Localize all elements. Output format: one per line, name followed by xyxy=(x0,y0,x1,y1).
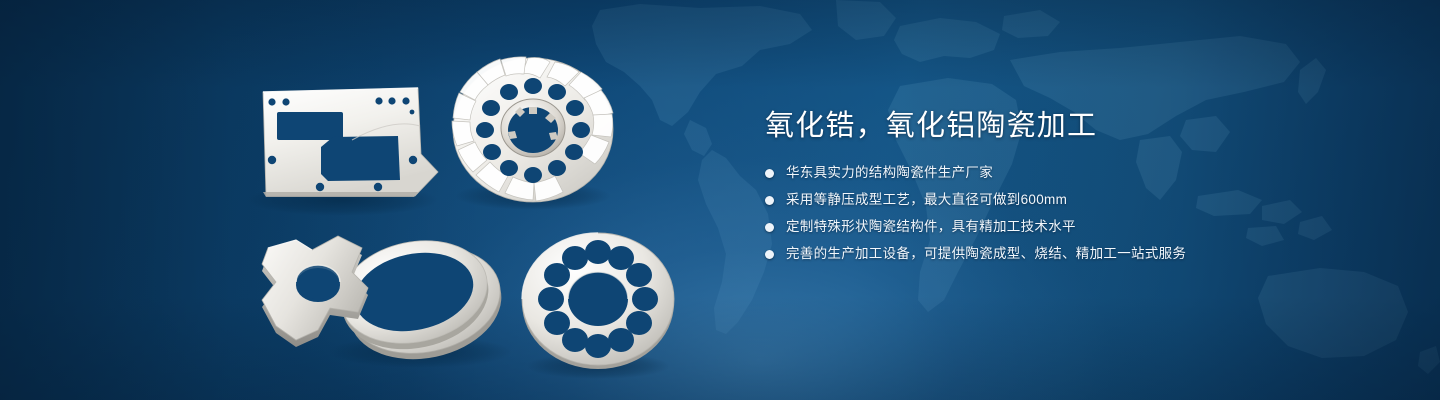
list-item-label: 采用等静压成型工艺，最大直径可做到600mm xyxy=(786,189,1067,211)
list-item: 定制特殊形状陶瓷结构件，具有精加工技术水平 xyxy=(765,216,1385,238)
bullet-dot-icon xyxy=(765,250,774,259)
page-title: 氧化锆，氧化铝陶瓷加工 xyxy=(765,104,1385,148)
ceramic-impeller-disc xyxy=(452,57,613,210)
list-item: 华东具实力的结构陶瓷件生产厂家 xyxy=(765,162,1385,184)
list-item-label: 定制特殊形状陶瓷结构件，具有精加工技术水平 xyxy=(786,216,1076,238)
banner-text-column: 氧化锆，氧化铝陶瓷加工 华东具实力的结构陶瓷件生产厂家 采用等静压成型工艺，最大… xyxy=(765,104,1385,270)
list-item: 采用等静压成型工艺，最大直径可做到600mm xyxy=(765,189,1385,211)
bullet-dot-icon xyxy=(765,196,774,205)
list-item-label: 完善的生产加工设备，可提供陶瓷成型、烧结、精加工一站式服务 xyxy=(786,243,1186,265)
bullet-dot-icon xyxy=(765,223,774,232)
list-item-label: 华东具实力的结构陶瓷件生产厂家 xyxy=(786,162,993,184)
feature-list: 华东具实力的结构陶瓷件生产厂家 采用等静压成型工艺，最大直径可做到600mm 定… xyxy=(765,162,1385,265)
bullet-dot-icon xyxy=(765,169,774,178)
hero-banner: 氧化锆，氧化铝陶瓷加工 华东具实力的结构陶瓷件生产厂家 采用等静压成型工艺，最大… xyxy=(0,0,1440,400)
ceramic-hole-ring xyxy=(522,233,674,379)
product-photo-cluster xyxy=(0,0,720,400)
list-item: 完善的生产加工设备，可提供陶瓷成型、烧结、精加工一站式服务 xyxy=(765,243,1385,265)
ceramic-machined-plate xyxy=(246,88,438,216)
